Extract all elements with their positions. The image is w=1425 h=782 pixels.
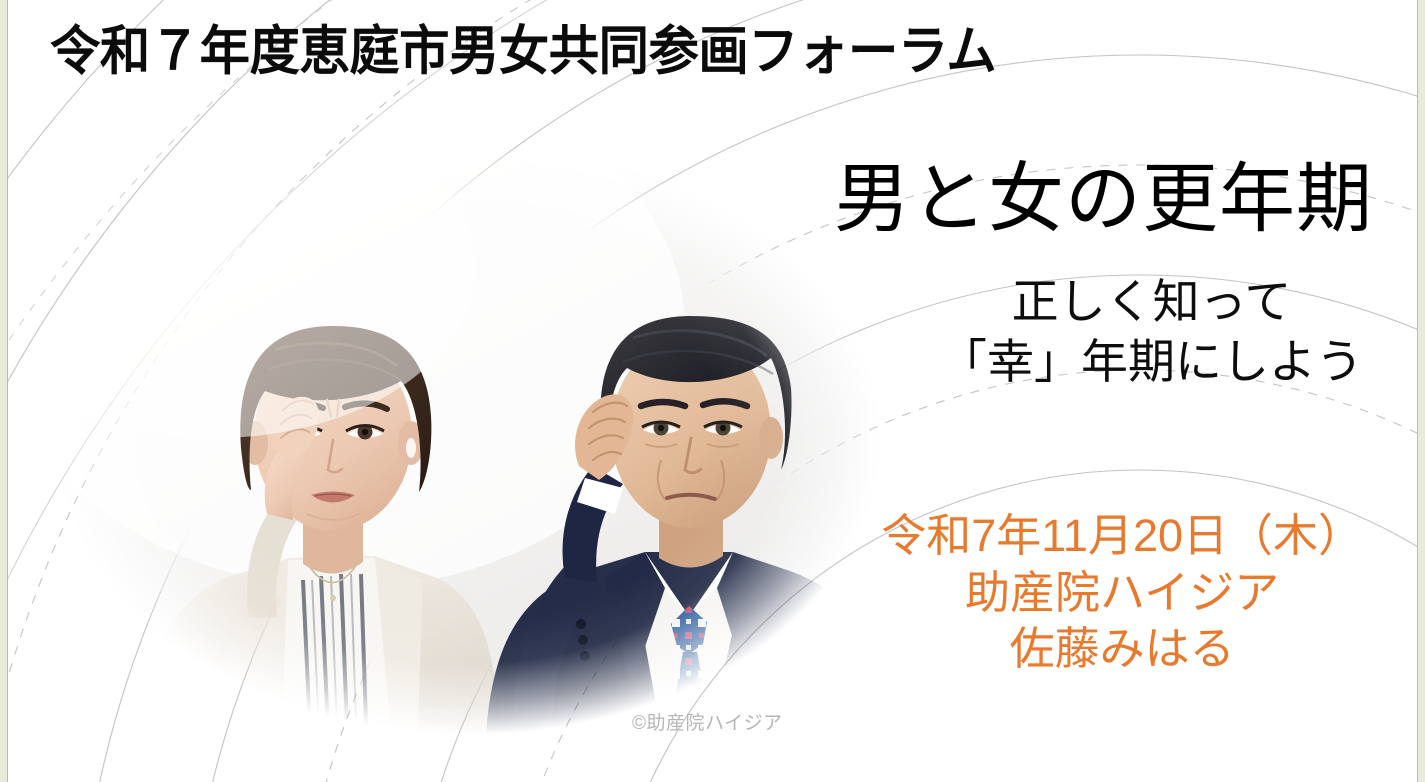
event-date: 令和7年11月20日（木） (881, 508, 1363, 565)
left-edge-strip (0, 0, 7, 782)
right-edge-strip (1418, 0, 1425, 782)
page-title: 男と女の更年期 (834, 162, 1373, 238)
couple-photo (45, 148, 890, 753)
poster-slide: 令和７年度恵庭市男女共同参画フォーラム 男と女の更年期 正しく知って 「幸」年期… (0, 0, 1425, 782)
event-info-block: 令和7年11月20日（木） 助産院ハイジア 佐藤みはる (881, 508, 1363, 678)
left-edge-rule (7, 0, 8, 782)
subtitle-block: 正しく知って 「幸」年期にしよう (940, 272, 1363, 392)
right-edge-rule (1417, 0, 1418, 782)
event-organization: 助産院ハイジア (881, 565, 1363, 622)
subtitle-line-2: 「幸」年期にしよう (940, 332, 1363, 392)
subtitle-line-1: 正しく知って (940, 272, 1363, 332)
forum-header-title: 令和７年度恵庭市男女共同参画フォーラム (50, 22, 996, 81)
event-speaker: 佐藤みはる (881, 621, 1363, 678)
photo-credit: ©助産院ハイジア (632, 708, 783, 735)
